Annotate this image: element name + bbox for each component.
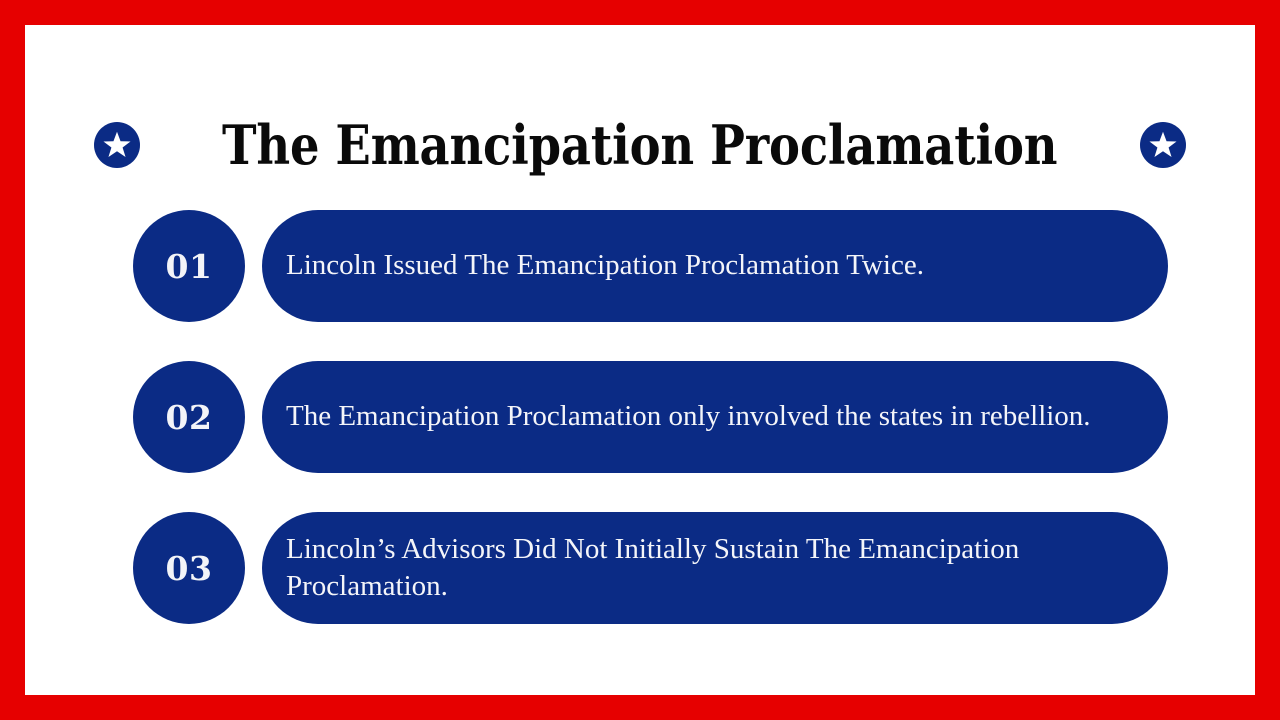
number-badge-label: 02 xyxy=(166,401,213,434)
slide-content-area: The Emancipation Proclamation 01 Lincoln… xyxy=(25,25,1255,695)
star-icon-right xyxy=(1140,122,1186,168)
number-badge-03: 03 xyxy=(133,512,245,624)
title-row: The Emancipation Proclamation xyxy=(25,110,1255,180)
fact-pill-02: The Emancipation Proclamation only invol… xyxy=(262,361,1168,473)
page-title: The Emancipation Proclamation xyxy=(222,118,1057,172)
fact-text: Lincoln’s Advisors Did Not Initially Sus… xyxy=(286,531,1122,605)
star-icon-left xyxy=(94,122,140,168)
number-badge-label: 03 xyxy=(166,552,213,585)
fact-text: Lincoln Issued The Emancipation Proclama… xyxy=(286,247,924,284)
slide-red-frame: The Emancipation Proclamation 01 Lincoln… xyxy=(0,0,1280,720)
number-badge-label: 01 xyxy=(166,250,213,283)
fact-text: The Emancipation Proclamation only invol… xyxy=(286,398,1091,435)
fact-pill-01: Lincoln Issued The Emancipation Proclama… xyxy=(262,210,1168,322)
list-item: 03 Lincoln’s Advisors Did Not Initially … xyxy=(133,512,1168,624)
fact-list: 01 Lincoln Issued The Emancipation Procl… xyxy=(133,210,1168,624)
list-item: 02 The Emancipation Proclamation only in… xyxy=(133,361,1168,473)
number-badge-02: 02 xyxy=(133,361,245,473)
fact-pill-03: Lincoln’s Advisors Did Not Initially Sus… xyxy=(262,512,1168,624)
number-badge-01: 01 xyxy=(133,210,245,322)
list-item: 01 Lincoln Issued The Emancipation Procl… xyxy=(133,210,1168,322)
